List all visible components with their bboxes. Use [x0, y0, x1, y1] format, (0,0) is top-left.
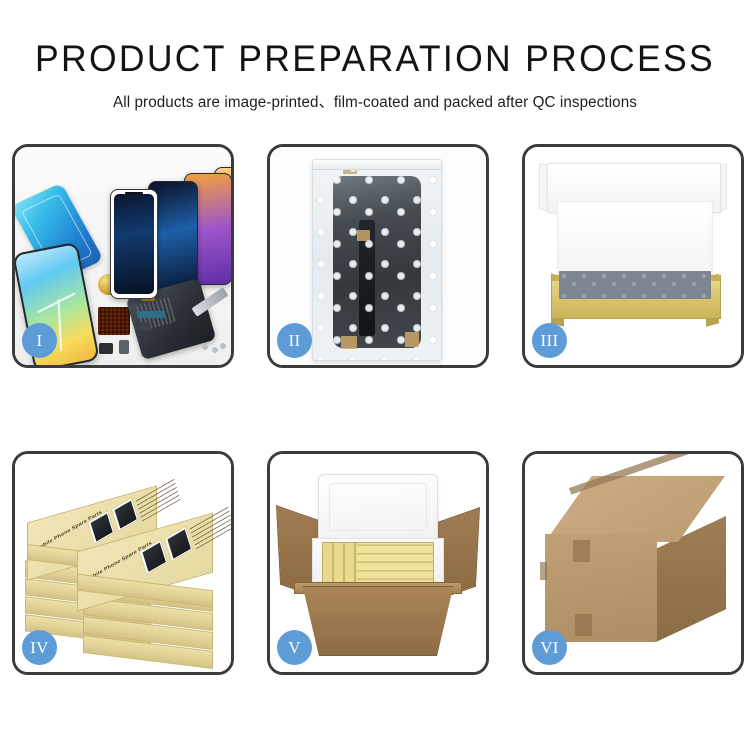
- copper-pad-grid: [98, 307, 130, 335]
- bubble-texture: [313, 160, 441, 360]
- box-product-image: [164, 526, 194, 562]
- phone-display-1: [110, 189, 158, 299]
- step-panel-6[interactable]: VI: [522, 451, 744, 675]
- phone-display-fan: [110, 167, 231, 297]
- small-part: [119, 340, 129, 354]
- carton-body: [296, 586, 460, 656]
- small-part: [99, 343, 113, 354]
- step-badge-6: VI: [532, 630, 567, 665]
- bubble-wrap-bag: [312, 159, 442, 361]
- carton-front-face: [545, 534, 657, 642]
- gray-bubble-wrap-fill: [559, 271, 711, 299]
- step-panel-3[interactable]: III: [522, 144, 744, 368]
- tape-piece: [575, 614, 592, 636]
- step-panel-1[interactable]: I: [12, 144, 234, 368]
- flex-cable: [137, 311, 165, 318]
- step-badge-4: IV: [22, 630, 57, 665]
- step-badge-1: I: [22, 323, 57, 358]
- screws: [201, 343, 227, 353]
- tape-piece: [540, 562, 547, 580]
- step-panel-2[interactable]: II: [267, 144, 489, 368]
- page-subtitle: All products are image-printed、film-coat…: [8, 79, 743, 112]
- step-badge-3: III: [532, 323, 567, 358]
- phone-notch-icon: [125, 192, 143, 196]
- box-feature-list: [189, 506, 231, 549]
- box-product-image: [111, 497, 139, 532]
- foam-sheet: [557, 201, 713, 281]
- box-feature-list: [135, 478, 180, 521]
- small-part: [139, 322, 151, 331]
- step-panel-5[interactable]: V: [267, 451, 489, 675]
- step-panel-4[interactable]: Mobile Phone Spare Parts Mobile Phone Sp…: [12, 451, 234, 675]
- page-title: PRODUCT PREPARATION PROCESS: [15, 0, 735, 79]
- tape-piece: [573, 540, 590, 562]
- foam-box-lid: [318, 474, 438, 546]
- page-header: PRODUCT PREPARATION PROCESS All products…: [0, 0, 750, 112]
- step-badge-2: II: [277, 323, 312, 358]
- bag-seal: [313, 160, 441, 170]
- process-steps-grid: I II: [12, 144, 738, 674]
- step-badge-5: V: [277, 630, 312, 665]
